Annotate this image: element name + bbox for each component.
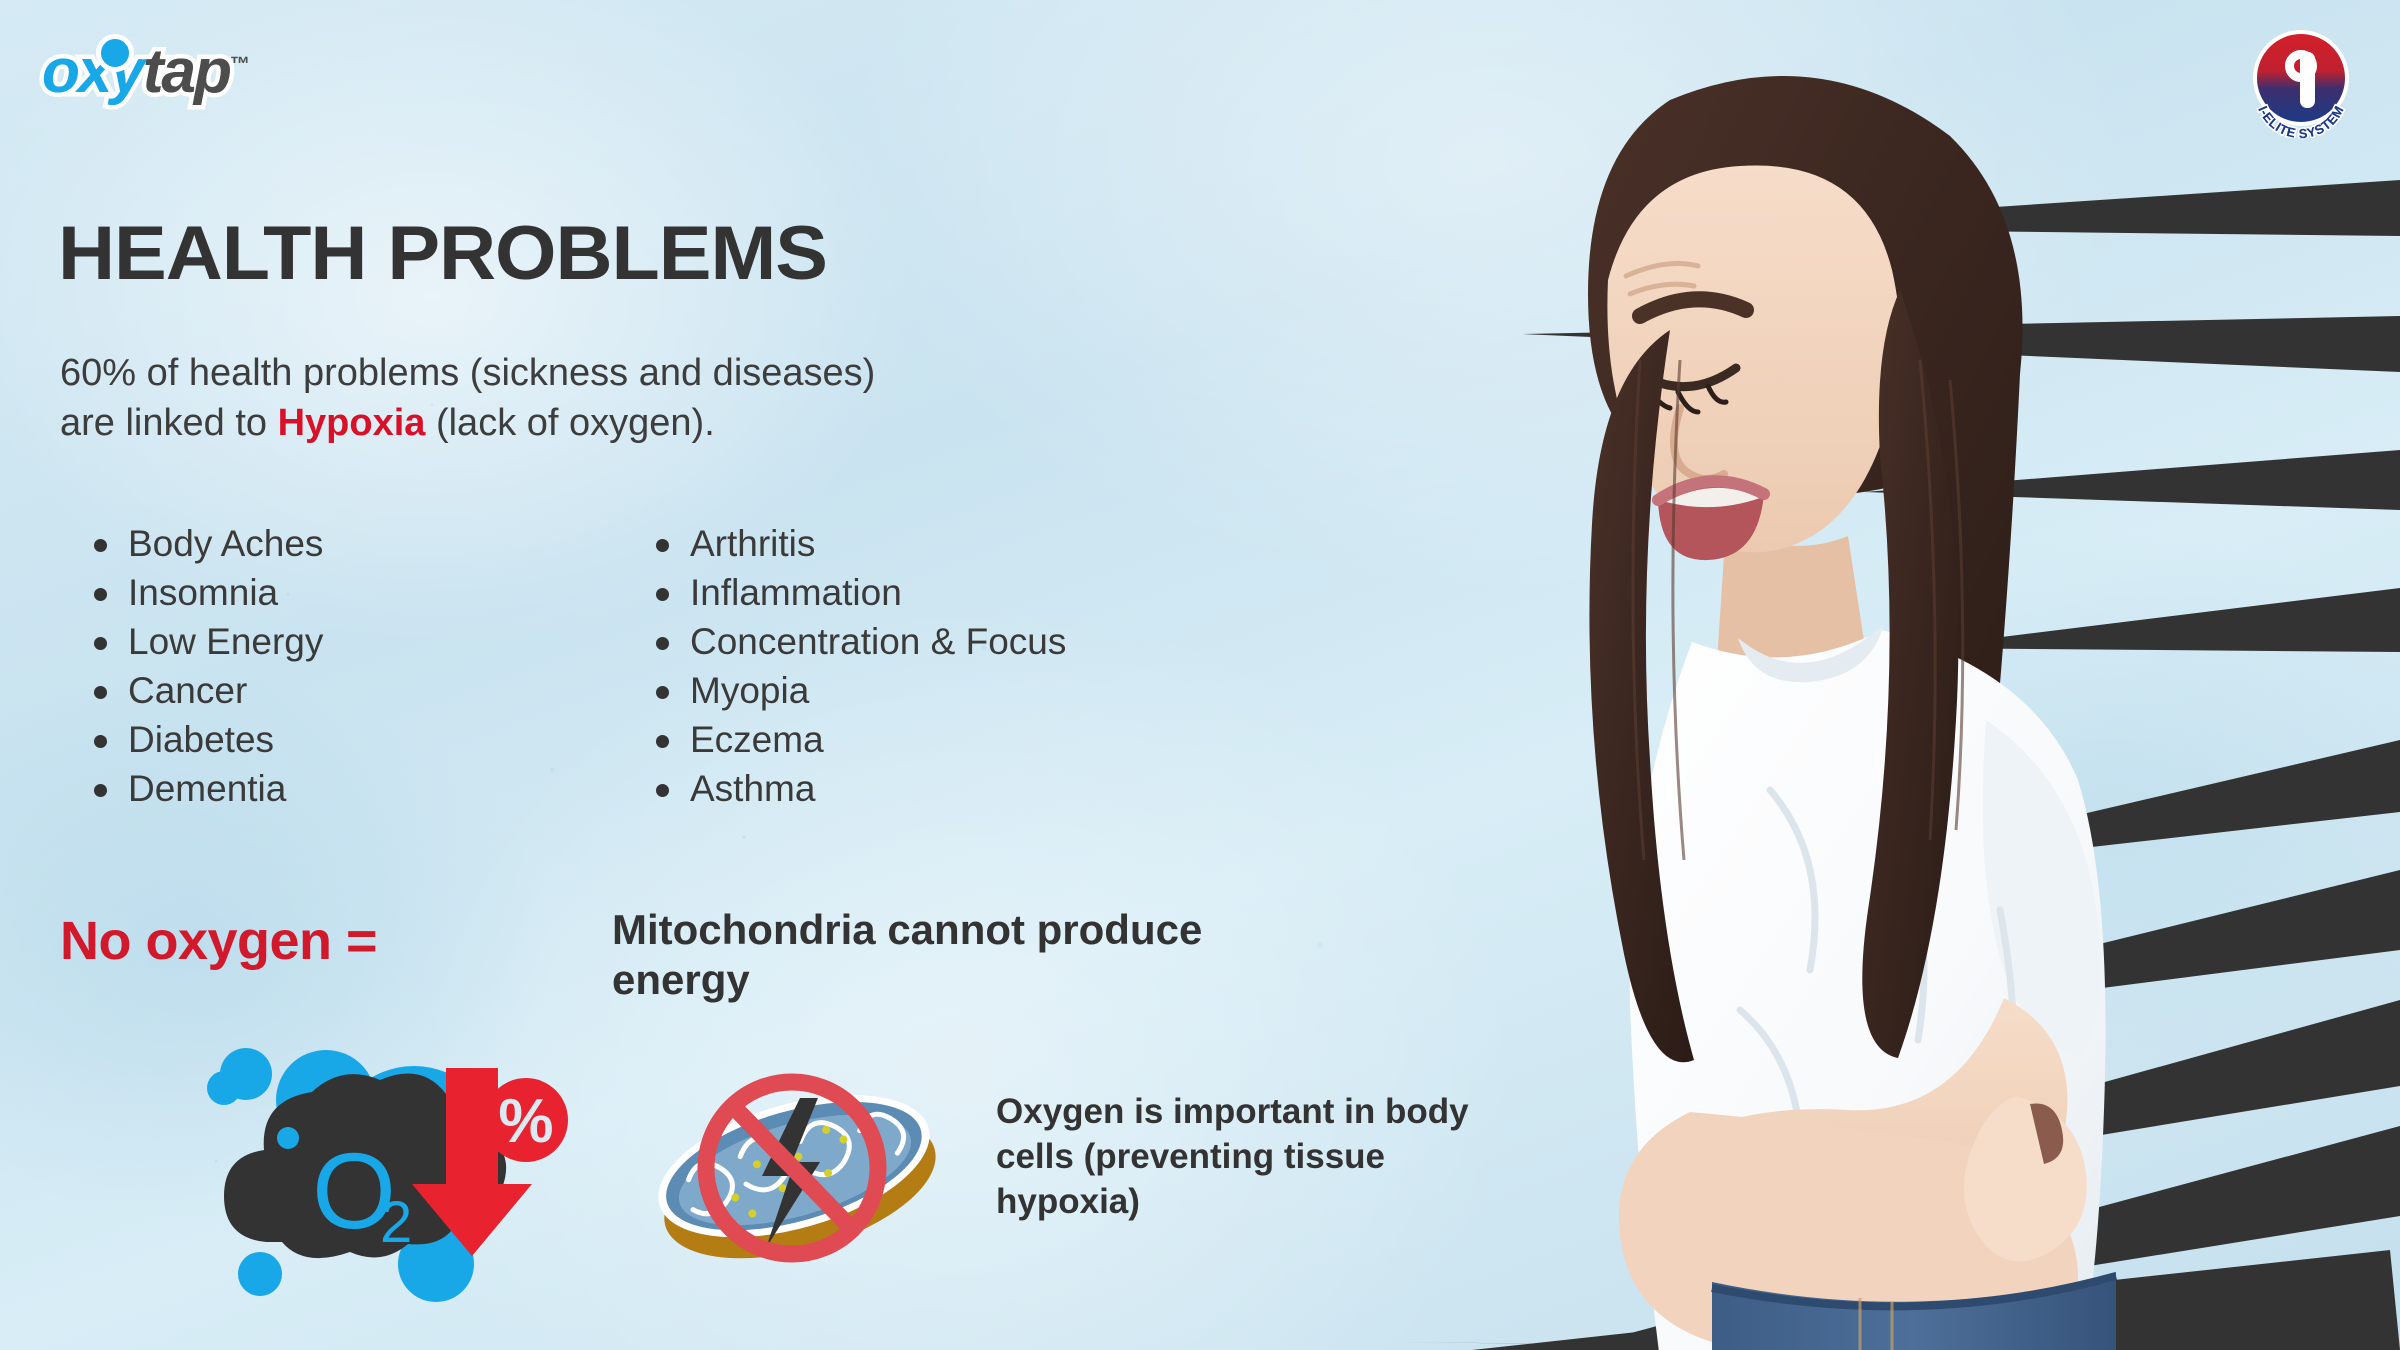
list-item: Inflammation — [650, 574, 1066, 611]
subtitle: 60% of health problems (sickness and dis… — [60, 348, 940, 448]
oxytap-logo-fill: oxytap™ — [42, 36, 248, 107]
list-item: Insomnia — [88, 574, 323, 611]
infographic-canvas: oxytap oxytap™ I-ELITE SYSTEM I-ELITE SY… — [0, 0, 2400, 1350]
list-item: Myopia — [650, 672, 1066, 709]
trademark-symbol: ™ — [230, 53, 248, 75]
subtitle-after: (lack of oxygen). — [425, 402, 714, 444]
symptoms-list-right: Arthritis Inflammation Concentration & F… — [650, 525, 1066, 819]
percent-symbol: % — [498, 1087, 553, 1156]
subtitle-highlight-hypoxia: Hypoxia — [278, 402, 426, 444]
list-item: Body Aches — [88, 525, 323, 562]
woman-in-pain-photo — [1380, 30, 2240, 1350]
list-item: Cancer — [88, 672, 323, 709]
list-item: Diabetes — [88, 721, 323, 758]
logo-text-tap: tap — [143, 37, 230, 106]
oxygen-drop-icon: O 2 % — [196, 1032, 576, 1322]
list-item: Eczema — [650, 721, 1066, 758]
symptoms-list-left: Body Aches Insomnia Low Energy Cancer Di… — [88, 525, 323, 819]
mitochondria-icon — [650, 1040, 940, 1290]
o2-bubble-bottom-left-icon — [238, 1252, 282, 1296]
mitochondria-statement: Mitochondria cannot produce energy — [612, 905, 1232, 1004]
list-item: Asthma — [650, 770, 1066, 807]
list-item: Arthritis — [650, 525, 1066, 562]
page-title: HEALTH PROBLEMS — [58, 216, 827, 292]
photo-region — [1380, 0, 2400, 1350]
list-item: Dementia — [88, 770, 323, 807]
list-item: Concentration & Focus — [650, 623, 1066, 660]
o2-subscript: 2 — [380, 1190, 412, 1255]
no-oxygen-label: No oxygen = — [60, 910, 377, 972]
o2-bubble-tiny-icon — [207, 1071, 241, 1105]
oxytap-logo: oxytap oxytap™ — [42, 36, 372, 106]
o2-cloud-highlight-icon — [277, 1127, 299, 1149]
list-item: Low Energy — [88, 623, 323, 660]
bubble-icon — [96, 34, 134, 72]
